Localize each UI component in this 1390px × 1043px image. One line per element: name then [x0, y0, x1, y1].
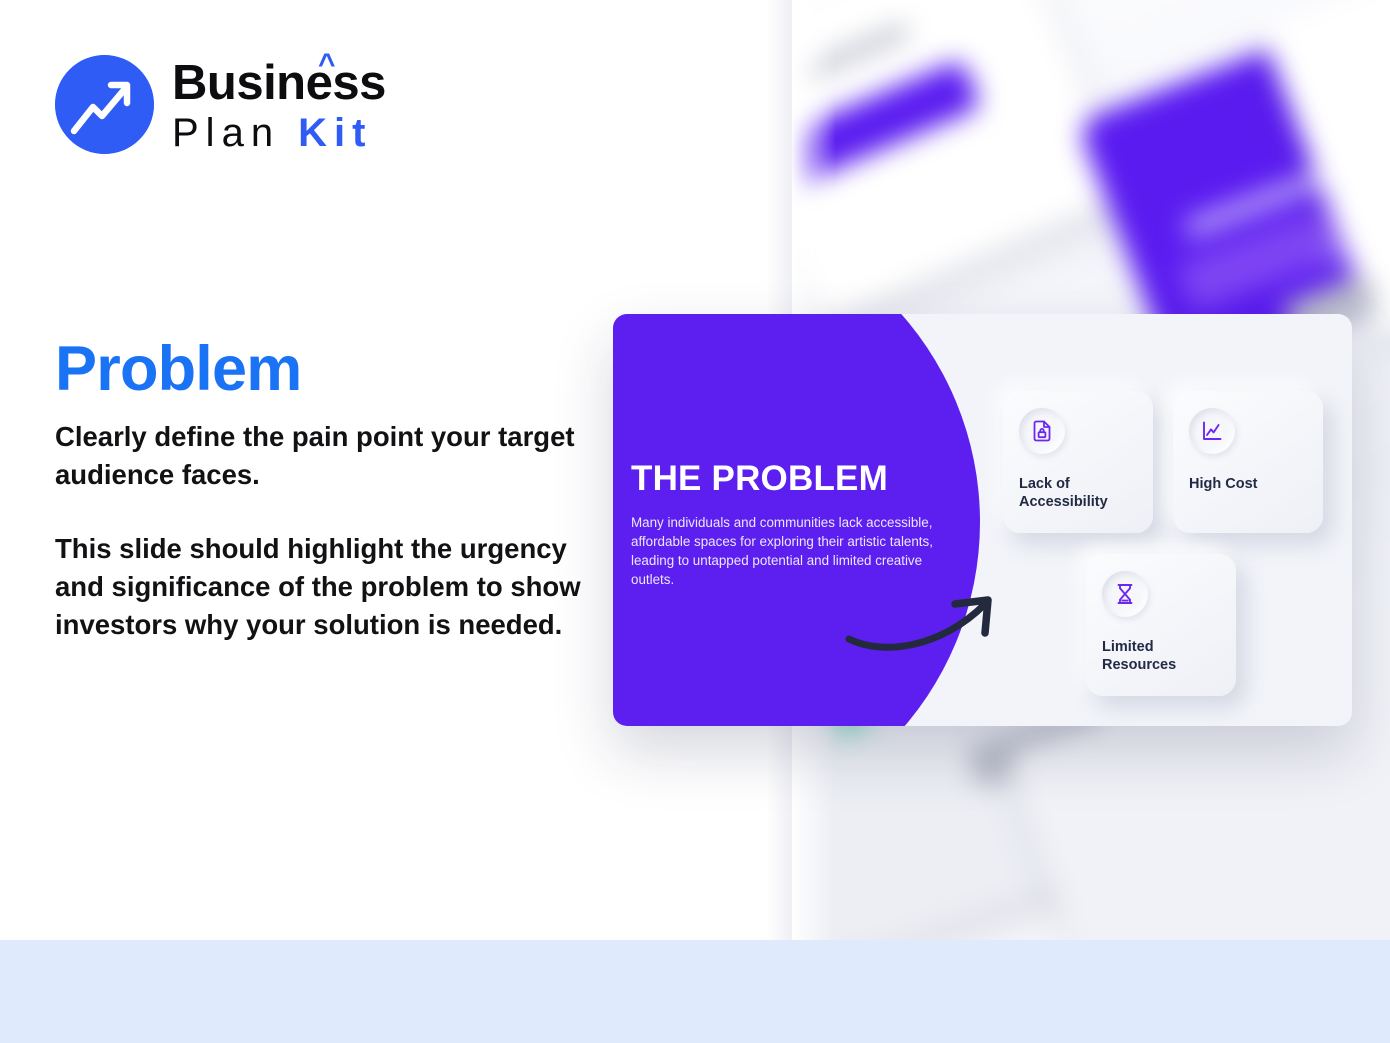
circumflex-accent-icon: ^ [318, 50, 335, 80]
feature-card-limited-resources[interactable]: Limited Resources [1086, 554, 1236, 696]
slide-text-block: THE PROBLEM Many individuals and communi… [631, 461, 943, 589]
bottom-accent-band [0, 940, 1390, 1043]
brand-logo[interactable]: Business ^ Plan Kit [55, 55, 386, 154]
feature-card-lack-of-accessibility[interactable]: Lack of Accessibility [1003, 391, 1153, 533]
brand-plan-text: Plan [172, 111, 298, 155]
document-lock-glyph [1030, 419, 1054, 443]
brand-line-plan-kit: Plan Kit [172, 113, 386, 153]
hourglass-icon [1102, 571, 1148, 617]
feature-card-high-cost[interactable]: High Cost [1173, 391, 1323, 533]
slide-heading: THE PROBLEM [631, 461, 943, 496]
document-lock-icon [1019, 408, 1065, 454]
line-chart-icon [1189, 408, 1235, 454]
feature-card-label: Lack of Accessibility [1019, 476, 1137, 511]
page-root: Business ^ Plan Kit Problem Clearly defi… [0, 0, 1390, 1043]
body-paragraph-2: This slide should highlight the urgency … [55, 530, 595, 644]
hourglass-glyph [1113, 582, 1137, 606]
brand-line1-text: Business [172, 56, 386, 110]
body-paragraph-1: Clearly define the pain point your targe… [55, 418, 595, 494]
brand-line-business: Business ^ [172, 59, 386, 109]
brand-kit-text: Kit [298, 111, 372, 155]
brand-wordmark: Business ^ Plan Kit [172, 57, 386, 153]
slide-preview-card[interactable]: THE PROBLEM Many individuals and communi… [613, 314, 1352, 726]
page-body-copy: Clearly define the pain point your targe… [55, 418, 595, 644]
feature-card-label: Limited Resources [1102, 639, 1220, 674]
line-chart-glyph [1200, 419, 1224, 443]
page-title: Problem [55, 336, 301, 402]
slide-body-text: Many individuals and communities lack ac… [631, 513, 943, 589]
feature-card-label: High Cost [1189, 476, 1307, 494]
growth-arrow-circle-icon [55, 55, 154, 154]
